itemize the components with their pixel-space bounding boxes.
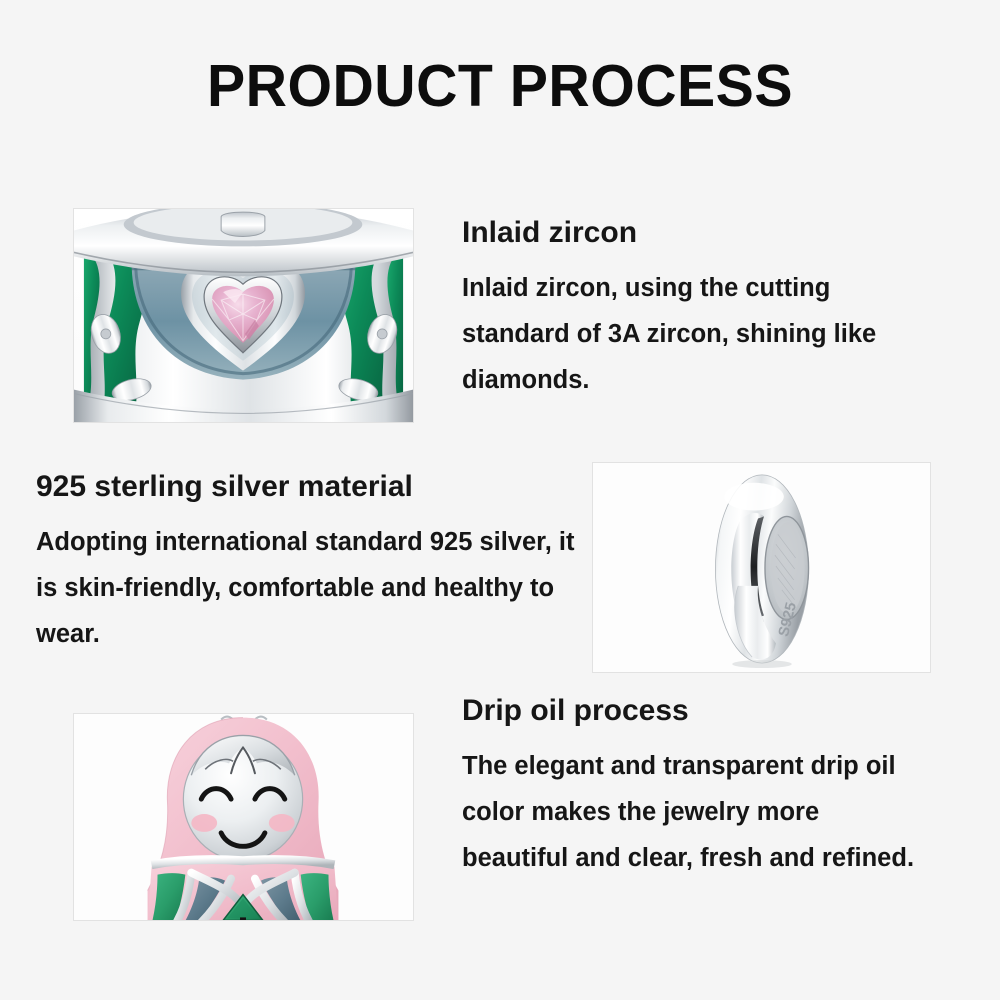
product-process-page: PRODUCT PROCESS: [0, 0, 1000, 1000]
section-heading-sterling-silver-material: 925 sterling silver material: [36, 470, 581, 505]
section-heading-drip-oil-process: Drip oil process: [462, 694, 932, 729]
section-body-drip-oil-process: The elegant and transparent drip oil col…: [462, 743, 932, 882]
matryoshka-doll-illustration: [74, 714, 413, 920]
image-matryoshka-doll-charm: [73, 713, 414, 921]
silver-ring-spacer-illustration: S925: [593, 463, 930, 672]
silver-charm-bead-illustration: [74, 209, 413, 422]
section-inlaid-zircon: Inlaid zircon Inlaid zircon, using the c…: [462, 216, 922, 404]
page-title: PRODUCT PROCESS: [15, 56, 985, 118]
image-silver-ring-spacer-bead: S925: [592, 462, 931, 673]
section-sterling-silver-material: 925 sterling silver material Adopting in…: [36, 470, 581, 658]
section-body-sterling-silver-material: Adopting international standard 925 silv…: [36, 519, 581, 658]
image-silver-charm-bead-with-pink-heart-zircon: [73, 208, 414, 423]
section-drip-oil-process: Drip oil process The elegant and transpa…: [462, 694, 932, 882]
section-heading-inlaid-zircon: Inlaid zircon: [462, 216, 922, 251]
section-body-inlaid-zircon: Inlaid zircon, using the cutting standar…: [462, 265, 922, 404]
